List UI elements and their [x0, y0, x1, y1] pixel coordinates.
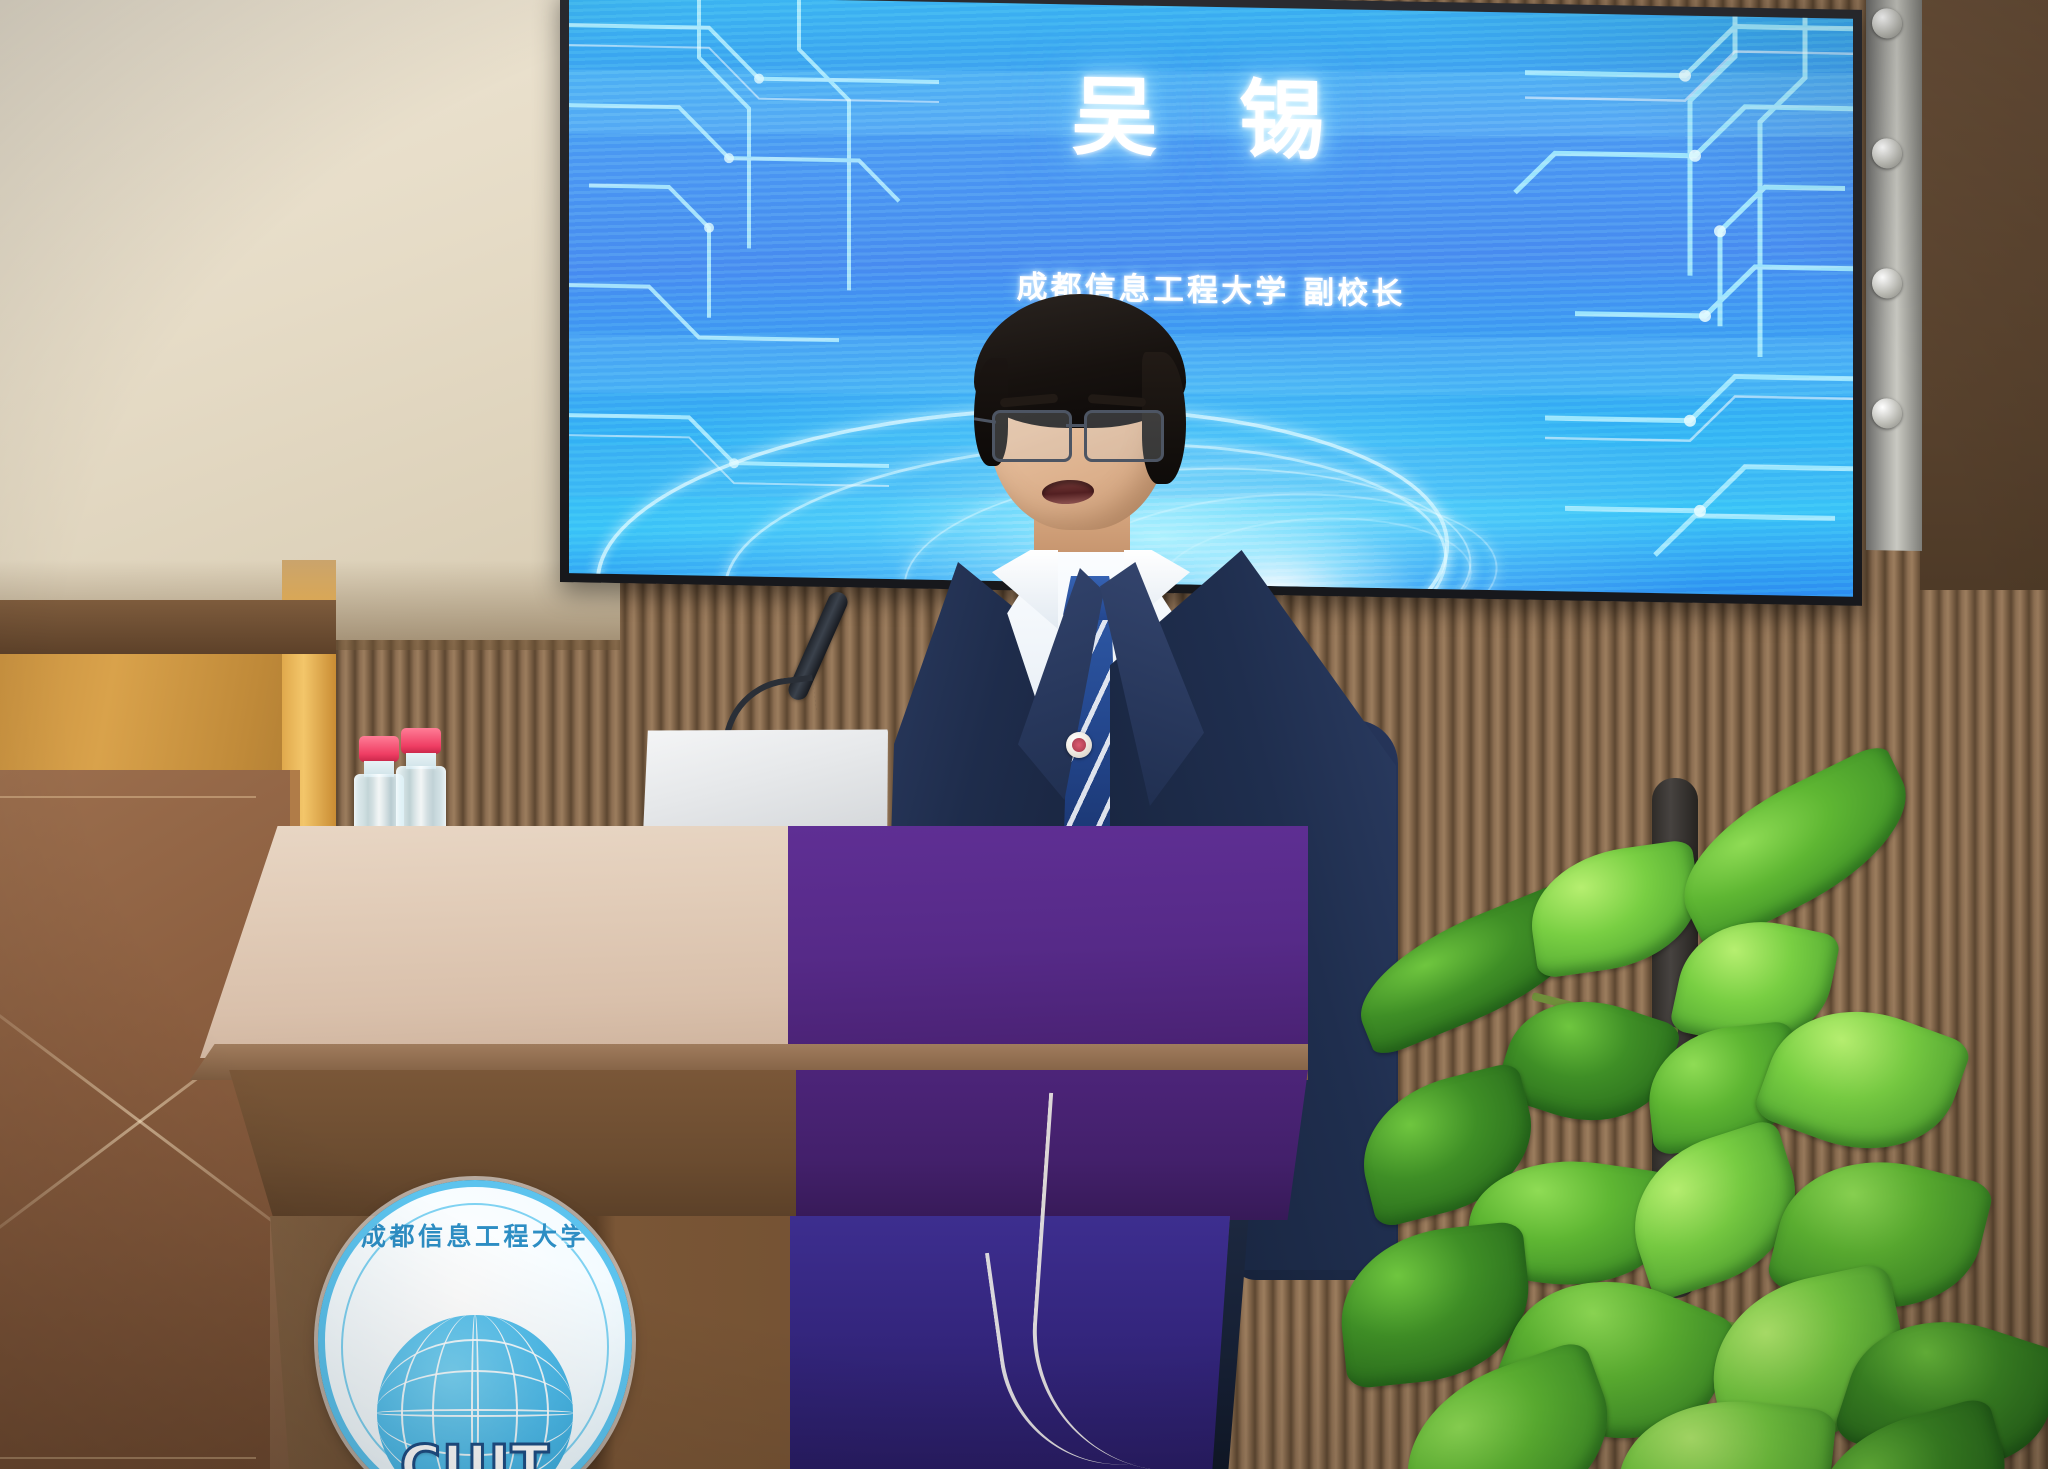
window-mullion — [1866, 0, 1922, 551]
plant-leaf — [1658, 741, 1932, 951]
emblem-chinese-name: 成都信息工程大学 — [325, 1217, 625, 1253]
presentation-scene: 吴 锡 成都信息工程大学 副校长 — [0, 0, 2048, 1469]
lectern-top-purple-panel — [788, 826, 1308, 1068]
bottle-cap — [401, 728, 441, 754]
mullion-stud — [1872, 268, 1902, 299]
cream-wall — [0, 0, 620, 640]
emblem-acronym: CUIT — [325, 1434, 625, 1469]
eyeglass-bridge — [1066, 424, 1084, 427]
potted-plant — [1380, 760, 2048, 1469]
mullion-stud — [1872, 8, 1902, 39]
eyeglass-lens — [992, 410, 1072, 462]
slide-title: 吴 锡 — [569, 37, 1853, 186]
university-emblem: 成都信息工程大学 CUIT — [318, 1180, 632, 1469]
lapel-pin-icon — [1066, 732, 1092, 758]
bottle-cap — [359, 736, 399, 762]
eyeglass-lens — [1084, 410, 1164, 462]
far-wall — [1920, 0, 2048, 590]
mullion-stud — [1872, 138, 1902, 169]
eyeglasses-icon — [992, 410, 1174, 456]
mullion-stud — [1872, 398, 1902, 429]
wall-baseboard — [0, 600, 336, 654]
